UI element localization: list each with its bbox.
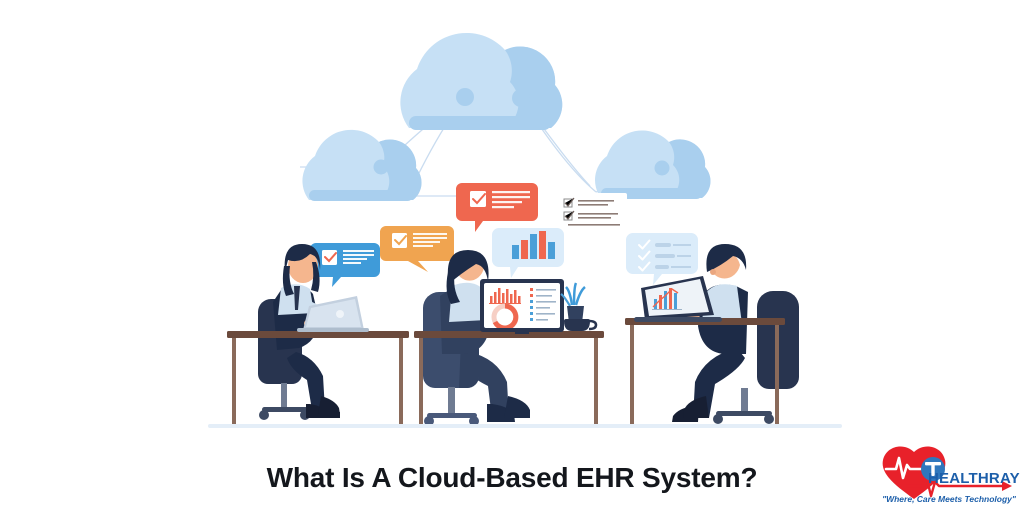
cloud-ehr-office-illustration <box>0 0 1024 529</box>
coffee-cup <box>564 319 596 331</box>
bubble-blue-checklist <box>310 243 380 287</box>
illustration-canvas: What Is A Cloud-Based EHR System? HEALTH… <box>0 0 1024 529</box>
workstation-left <box>227 244 409 424</box>
bubble-coral-checklist <box>456 183 538 232</box>
page-title: What Is A Cloud-Based EHR System? <box>0 462 1024 494</box>
cloud-right-small <box>595 130 710 199</box>
logo-wordmark: HEALTHRAY <box>928 470 1020 487</box>
bubble-lightblue-barchart <box>492 228 564 278</box>
workstation-center <box>414 250 604 426</box>
bubble-lightblue-checklist <box>626 233 698 285</box>
bubble-orange-checklist <box>380 226 454 272</box>
floor-line <box>208 424 842 428</box>
healthray-logo[interactable]: HEALTHRAY "Where, Care Meets Technology" <box>876 444 1020 516</box>
cloud-center-large <box>400 33 562 130</box>
card-white-checklist <box>557 193 627 229</box>
logo-tagline: "Where, Care Meets Technology" <box>878 494 1020 504</box>
cloud-left-small <box>302 130 421 201</box>
